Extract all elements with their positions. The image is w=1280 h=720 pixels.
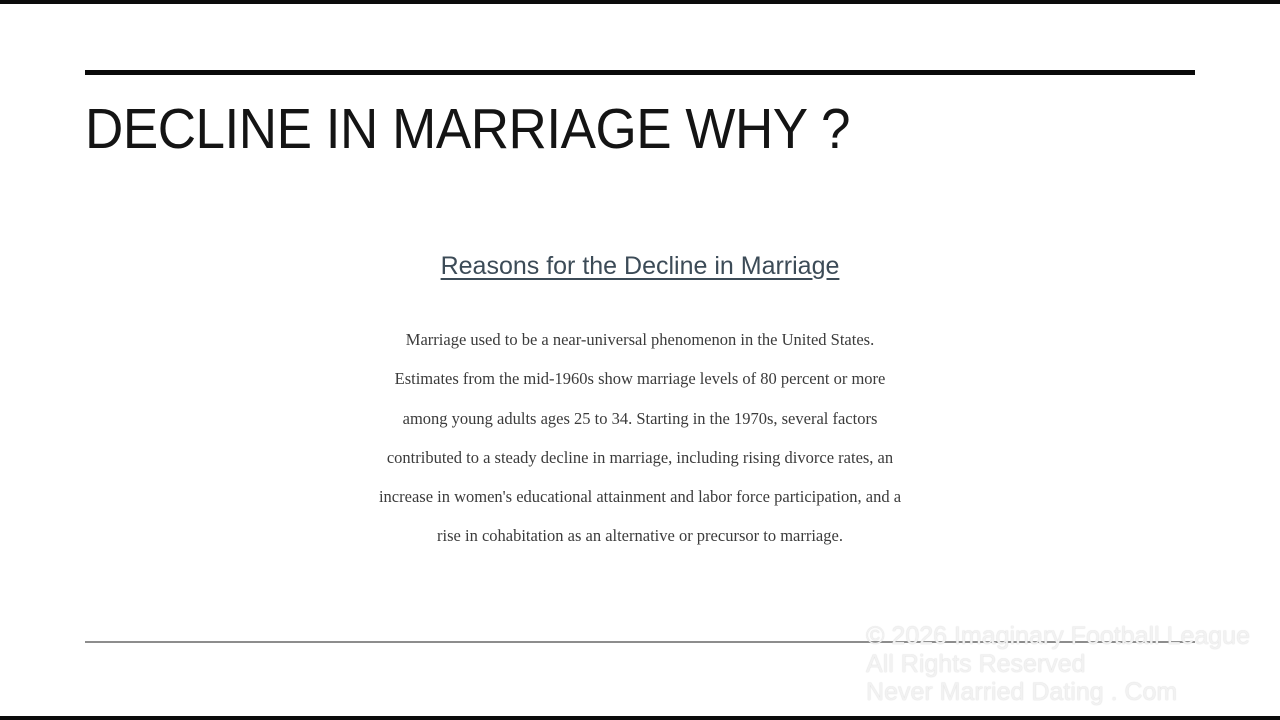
paragraph-line: Estimates from the mid-1960s show marria… [340, 359, 940, 398]
paragraph-line: rise in cohabitation as an alternative o… [340, 516, 940, 555]
title-divider-rule [85, 70, 1195, 75]
copyright-watermark: © 2026 Imaginary Football League All Rig… [866, 622, 1250, 706]
presentation-slide: DECLINE IN MARRIAGE WHY ? Reasons for th… [0, 0, 1280, 720]
letterbox-bar-bottom [0, 716, 1280, 720]
page-title: DECLINE IN MARRIAGE WHY ? [85, 96, 850, 162]
watermark-line-copyright: © 2026 Imaginary Football League [866, 622, 1250, 650]
paragraph-line: increase in women's educational attainme… [340, 477, 940, 516]
paragraph-line: among young adults ages 25 to 34. Starti… [340, 399, 940, 438]
letterbox-bar-top [0, 0, 1280, 4]
watermark-line-rights: All Rights Reserved [866, 650, 1250, 678]
paragraph-line: contributed to a steady decline in marri… [340, 438, 940, 477]
paragraph-line: Marriage used to be a near-universal phe… [340, 320, 940, 359]
footer-divider-rule [85, 641, 1195, 643]
content-paragraph: Marriage used to be a near-universal phe… [340, 320, 940, 556]
content-heading: Reasons for the Decline in Marriage [340, 250, 940, 282]
content-body: Reasons for the Decline in Marriage Marr… [340, 250, 940, 556]
watermark-line-site: Never Married Dating . Com [866, 678, 1250, 706]
